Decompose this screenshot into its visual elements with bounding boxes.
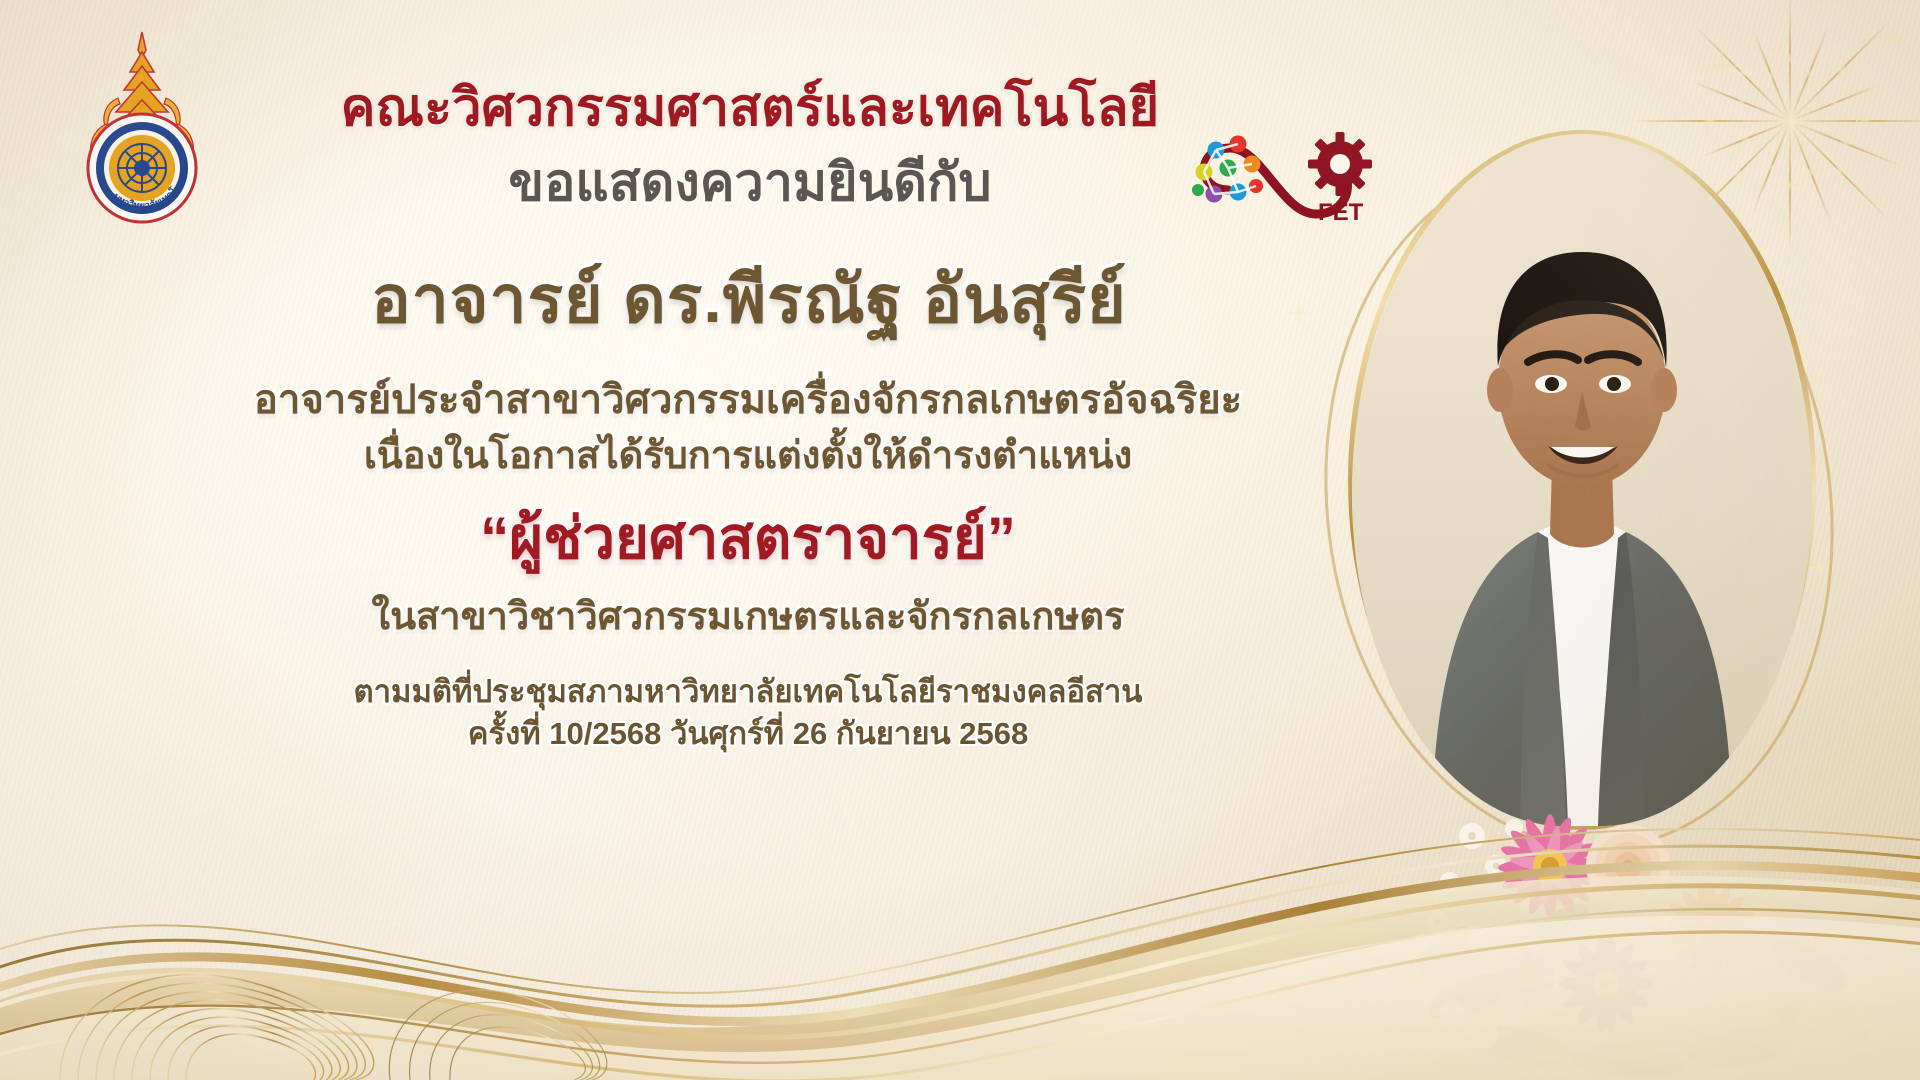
occasion-line: เนื่องในโอกาสได้รับการแต่งตั้งให้ดำรงตำแ… [206,434,1290,479]
sparkle-star-icon [1880,22,1910,52]
banner-text-block: คณะวิศวกรรมศาสตร์และเทคโนโลยี ขอแสดงความ… [0,0,1330,960]
faculty-heading: คณะวิศวกรรมศาสตร์และเทคโนโลยี [210,78,1290,139]
portrait-photo [1352,134,1812,826]
congratulation-line: ขอแสดงความยินดีกับ [210,153,1290,214]
honoree-name: อาจารย์ ดร.พีรณัฐ อันสุรีย์ [208,261,1290,339]
portrait-frame [1286,118,1886,948]
resolution-line: ตามมติที่ประชุมสภามหาวิทยาลัยเทคโนโลยีรา… [206,674,1290,711]
meeting-date-line: ครั้งที่ 10/2568 วันศุกร์ที่ 26 กันยายน … [206,716,1290,753]
congratulation-banner: มหาวิทยาลัยเทคโนโลยีราชมงคลอีสาน [0,0,1920,1080]
academic-rank-title: “ผู้ช่วยศาสตราจารย์” [206,505,1290,573]
field-line: ในสาขาวิชาวิศวกรรมเกษตรและจักรกลเกษตร [206,595,1290,640]
position-line: อาจารย์ประจำสาขาวิศวกรรมเครื่องจักรกลเกษ… [206,377,1290,424]
sparkle-star-icon [1694,38,1750,94]
